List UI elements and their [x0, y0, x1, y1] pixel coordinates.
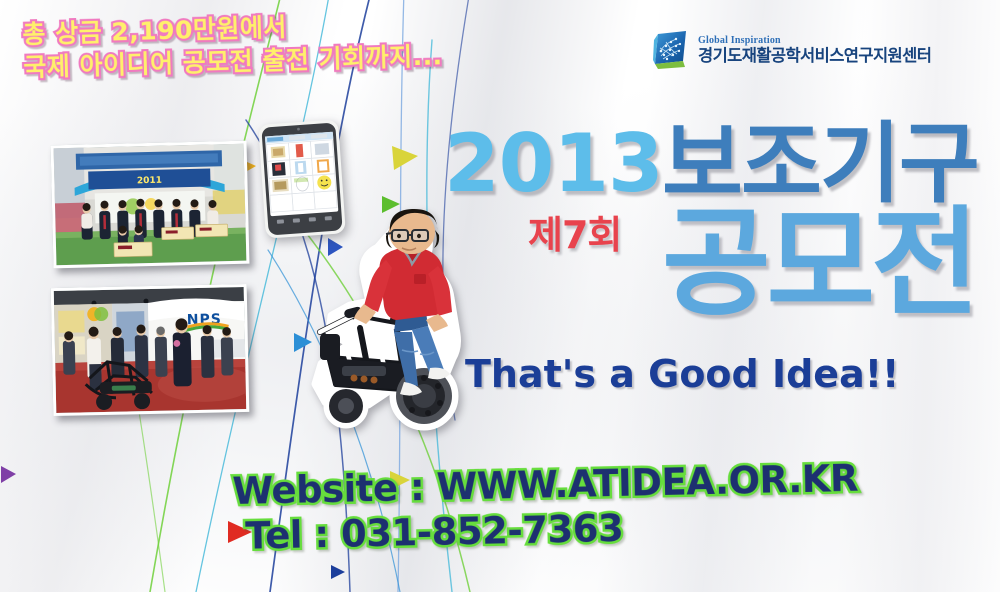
network-diamond-icon: [652, 30, 690, 70]
title-edition: 제7회: [528, 216, 621, 254]
svg-text:2011: 2011: [137, 176, 162, 187]
title-year: 2013: [444, 124, 663, 204]
exhibition-booth-photo: NPS: [51, 284, 250, 416]
logo-text-group: Global Inspiration 경기도재활공학서비스연구지원센터: [698, 36, 931, 65]
logo-organization-name: 경기도재활공학서비스연구지원센터: [698, 48, 931, 65]
title-word-competition: 공모전: [662, 204, 976, 322]
prize-headline: 총 상금 2,190만원에서 국제 아이디어 공모전 출전 기회까지...: [22, 6, 443, 84]
title-slogan: That's a Good Idea!!: [465, 354, 899, 394]
award-ceremony-photo: 2011: [51, 141, 250, 269]
contact-block: Website : WWW.ATIDEA.OR.KR Tel : 031-852…: [232, 457, 859, 560]
main-title-block: 2013 보조기구 제7회 공모전 That's a Good Idea!!: [432, 112, 992, 382]
organization-logo: Global Inspiration 경기도재활공학서비스연구지원센터: [652, 30, 931, 70]
poster-canvas: 총 상금 2,190만원에서 국제 아이디어 공모전 출전 기회까지...: [0, 0, 1000, 592]
logo-tagline: Global Inspiration: [698, 36, 931, 46]
